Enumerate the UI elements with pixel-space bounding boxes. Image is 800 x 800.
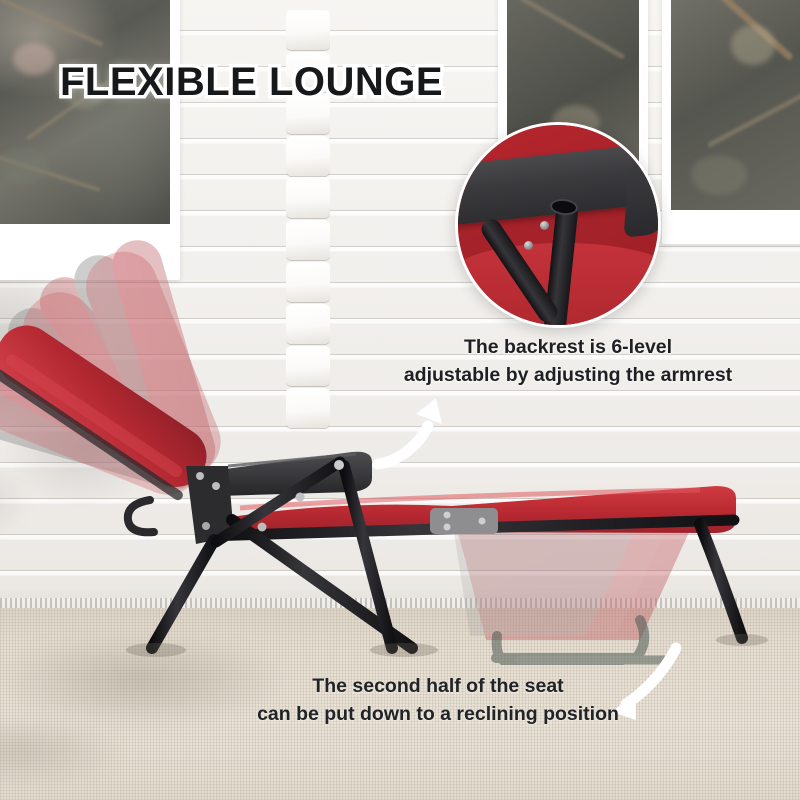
page-title: FLEXIBLE LOUNGE — [60, 60, 443, 105]
product-infographic: FLEXIBLE LOUNGE The backrest is 6-level … — [0, 0, 800, 800]
closeup-rivet-lower — [524, 241, 533, 250]
backrest-callout-line2: adjustable by adjusting the armrest — [358, 361, 778, 389]
closeup-armrest-tip — [624, 160, 661, 237]
curved-arrow-up-right-icon — [372, 388, 462, 474]
footrest-callout: The second half of the seat can be put d… — [218, 672, 658, 729]
backrest-callout-line1: The backrest is 6-level — [358, 333, 778, 361]
closeup-rivet-upper — [540, 221, 549, 230]
footrest-callout-line2: can be put down to a reclining position — [218, 700, 658, 728]
backrest-callout: The backrest is 6-level adjustable by ad… — [358, 333, 778, 390]
armrest-joint-closeup — [455, 122, 661, 328]
footrest-callout-line1: The second half of the seat — [218, 672, 658, 700]
